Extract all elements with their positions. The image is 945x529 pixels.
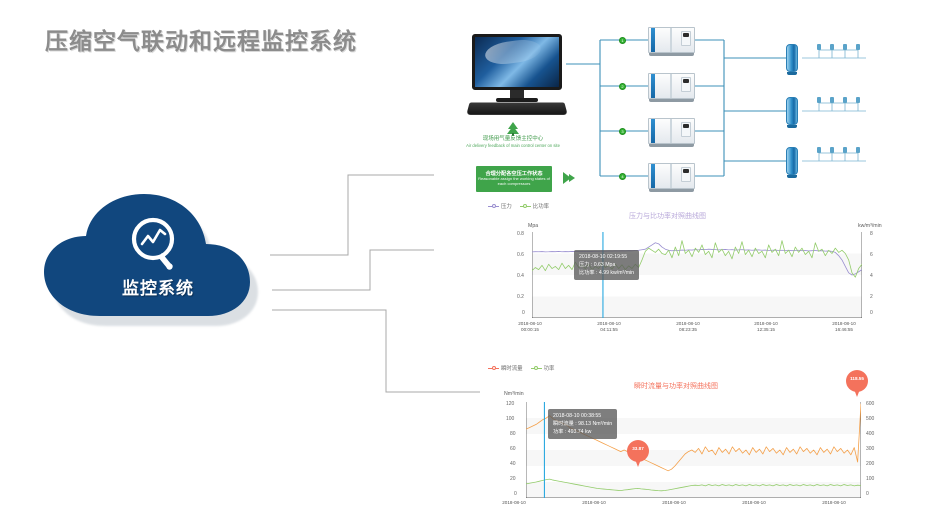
legend-item-power[interactable]: 功率 — [531, 364, 555, 372]
chart1-ytick-l-3: 0.2 — [517, 294, 524, 300]
compressor-stripe — [651, 74, 655, 98]
chart2-tooltip: 2018-08-10 00:38:55 瞬时流量 : 98.13 Nm³/min… — [548, 409, 617, 439]
chart2-marker-min-label: 33.87 — [627, 446, 649, 451]
chart1-xtick-0: 2018-08-1000:00:15 — [500, 321, 560, 332]
compressor-base — [649, 144, 694, 147]
compressor-seam — [670, 28, 672, 52]
tank-body — [786, 147, 798, 175]
legend-marker-pressure — [488, 203, 499, 209]
compressor-base — [649, 99, 694, 102]
compressor-unit-3[interactable] — [648, 118, 695, 148]
chart1-tooltip: 2018-08-10 02:19:55 压力 : 0.63 Mpa 比功率 : … — [574, 250, 639, 280]
chart2-ytick-r-1: 500 — [866, 416, 874, 422]
compressor-display-icon — [683, 169, 689, 173]
node-dot-4[interactable]: 4 — [619, 173, 626, 180]
legend-item-flow[interactable]: 瞬时流量 — [488, 364, 523, 372]
chart2-ytick-r-3: 300 — [866, 446, 874, 452]
compressor-unit-2[interactable] — [648, 73, 695, 103]
tank-base — [787, 175, 797, 178]
chart1-ytick-r-2: 4 — [870, 273, 873, 279]
compressor-base — [649, 189, 694, 192]
chart1-xtick-1: 2018-08-1004:11:55 — [579, 321, 639, 332]
chart1-title: 压力与比功率对照曲线图 — [629, 211, 706, 221]
chart1-ytick-l-1: 0.6 — [517, 252, 524, 258]
chart2-xtick-2: 2018-08-10 — [644, 500, 704, 506]
chart2-ytick-r-5: 100 — [866, 476, 874, 482]
chart2-ytick-r-4: 200 — [866, 461, 874, 467]
node-dot-1[interactable]: 1 — [619, 37, 626, 44]
chart2-xtick-3: 2018-08-10 — [724, 500, 784, 506]
chart1-xtick-4: 2018-08-1016:46:55 — [814, 321, 874, 332]
chart2-ytick-l-2: 80 — [510, 431, 516, 437]
chart2-ytick-l-4: 40 — [510, 461, 516, 467]
chart2-marker-max[interactable]: 118.55 — [846, 370, 868, 398]
chart2-xtick-1: 2018-08-10 — [564, 500, 624, 506]
chart1-ytick-l-2: 0.4 — [517, 273, 524, 279]
slide-canvas: 压缩空气联动和远程监控系统 监控系统 — [0, 0, 945, 529]
pressure-power-chart[interactable]: 压力 比功率 压力与比功率对照曲线图 Mpa kw/m³/min 0.8 0.6… — [486, 202, 886, 337]
legend-label-pressure: 压力 — [501, 202, 512, 210]
chart2-legend[interactable]: 瞬时流量 功率 — [488, 364, 554, 372]
compressor-seam — [670, 74, 672, 98]
chart2-ytick-l-1: 100 — [506, 416, 514, 422]
tank-base — [787, 125, 797, 128]
chart1-ytick-r-0: 8 — [870, 231, 873, 237]
page-title: 压缩空气联动和远程监控系统 — [45, 22, 357, 56]
compressor-seam — [670, 119, 672, 143]
compressor-display-icon — [683, 79, 689, 83]
chart1-ylabel-left: Mpa — [528, 223, 538, 229]
compressor-unit-4[interactable] — [648, 163, 695, 193]
flow-power-chart[interactable]: 瞬时流量 功率 瞬时流量与功率对照曲线图 Nm³/min 120 100 80 … — [486, 364, 886, 524]
chart2-xtick-0: 2018-08-10 — [484, 500, 544, 506]
chart2-ytick-l-0: 120 — [506, 401, 514, 407]
magnifier-chart-icon — [126, 216, 190, 274]
legend-label-specific-power: 比功率 — [533, 202, 549, 210]
chart2-title: 瞬时流量与功率对照曲线图 — [634, 381, 718, 391]
compressor-stripe — [651, 164, 655, 188]
legend-item-specific-power[interactable]: 比功率 — [520, 202, 549, 210]
chart2-tooltip-line1: 瞬时流量 : 98.13 Nm³/min — [553, 420, 612, 428]
monitoring-cloud[interactable]: 监控系统 — [38, 192, 288, 332]
compressor-unit-1[interactable] — [648, 27, 695, 57]
chart2-ytick-r-2: 400 — [866, 431, 874, 437]
chart1-ytick-r-3: 2 — [870, 294, 873, 300]
chart1-tooltip-line1: 压力 : 0.63 Mpa — [579, 261, 634, 269]
chart2-ylabel-left: Nm³/min — [504, 391, 524, 397]
compressor-stripe — [651, 28, 655, 52]
air-tank-1[interactable] — [786, 44, 798, 74]
compressor-display-icon — [683, 124, 689, 128]
chart2-tooltip-line2: 功率 : 493.74 kw — [553, 428, 612, 436]
chart2-ytick-l-6: 0 — [514, 491, 517, 497]
chart2-tooltip-time: 2018-08-10 00:38:55 — [553, 412, 612, 420]
chart1-xtick-2: 2018-08-1008:23:35 — [658, 321, 718, 332]
chart1-ylabel-right: kw/m³/min — [858, 223, 882, 229]
tank-body — [786, 97, 798, 125]
tank-base — [787, 72, 797, 75]
chart2-marker-max-label: 118.55 — [846, 376, 868, 381]
chart1-legend[interactable]: 压力 比功率 — [488, 202, 549, 210]
cloud-label: 监控系统 — [38, 274, 278, 299]
chart2-ytick-l-5: 20 — [510, 476, 516, 482]
node-dot-2[interactable]: 2 — [619, 83, 626, 90]
chart1-xtick-3: 2018-08-1012:35:15 — [736, 321, 796, 332]
chart2-marker-min[interactable]: 33.87 — [627, 440, 649, 468]
compressor-stripe — [651, 119, 655, 143]
chart1-ytick-l-4: 0 — [522, 310, 525, 316]
air-tank-3[interactable] — [786, 147, 798, 177]
chart1-tooltip-time: 2018-08-10 02:19:55 — [579, 253, 634, 261]
legend-marker-flow — [488, 365, 499, 371]
pin-head — [627, 440, 649, 462]
tank-body — [786, 44, 798, 72]
chart2-ytick-r-0: 600 — [866, 401, 874, 407]
chart2-ytick-l-3: 60 — [510, 446, 516, 452]
legend-item-pressure[interactable]: 压力 — [488, 202, 512, 210]
chart1-ytick-r-1: 6 — [870, 252, 873, 258]
legend-label-flow: 瞬时流量 — [501, 364, 523, 372]
legend-marker-power — [531, 365, 542, 371]
compressor-display-icon — [683, 33, 689, 37]
pin-head — [846, 370, 868, 392]
node-dot-3[interactable]: 3 — [619, 128, 626, 135]
chart1-tooltip-line2: 比功率 : 4.99 kw/m³/min — [579, 269, 634, 277]
chart2-xtick-4: 2018-08-10 — [804, 500, 864, 506]
compressor-seam — [670, 164, 672, 188]
chart1-ytick-l-0: 0.8 — [517, 231, 524, 237]
legend-marker-specific-power — [520, 203, 531, 209]
chart1-ytick-r-4: 0 — [870, 310, 873, 316]
compressor-base — [649, 53, 694, 56]
chart2-ytick-r-6: 0 — [866, 491, 869, 497]
legend-label-power: 功率 — [544, 364, 555, 372]
air-tank-2[interactable] — [786, 97, 798, 127]
system-diagram: 现场用气量反馈主控中心 Air delivery feedback of mai… — [434, 18, 939, 203]
